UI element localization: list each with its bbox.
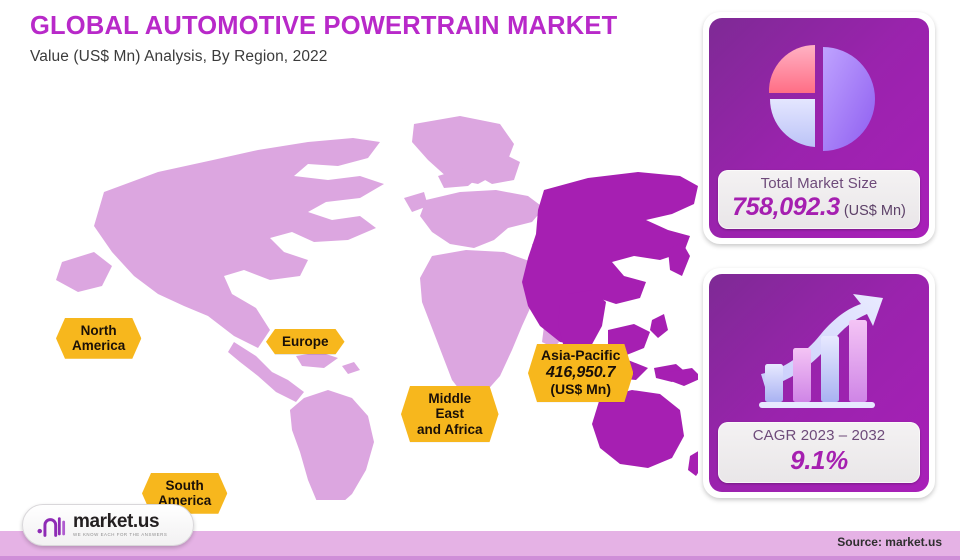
map-label-asia-pacific-unit: (US$ Mn) [541, 382, 620, 398]
map-label-europe[interactable]: Europe [266, 329, 345, 354]
map-label-middle-east-and-africa[interactable]: Middle East and Africa [401, 386, 499, 442]
map-regions-default [56, 116, 592, 500]
map-label-europe-text: Europe [282, 334, 329, 349]
map-label-asia-pacific-name: Asia-Pacific [541, 347, 620, 363]
market-us-logo-tagline: WE KNOW EACH FOR THE ANSWERS [73, 533, 167, 537]
map-label-south-america-line1: South [166, 478, 204, 493]
header: GLOBAL AUTOMOTIVE POWERTRAIN MARKET Valu… [30, 12, 670, 66]
market-size-unit: (US$ Mn) [844, 203, 906, 219]
source-text: Source: market.us [837, 535, 942, 549]
cagr-value: 9.1% [790, 445, 848, 475]
market-size-label: Total Market Size [724, 175, 914, 192]
cagr-card-inner: CAGR 2023 – 2032 9.1% [709, 274, 929, 492]
footer-strip [0, 556, 960, 560]
map-label-mea-line2: East [436, 406, 465, 421]
growth-bar-chart-icon [749, 292, 889, 414]
map-label-north-america-line1: North [81, 323, 117, 338]
cagr-label: CAGR 2023 – 2032 [724, 427, 914, 444]
world-map-svg [8, 80, 698, 500]
cagr-card: CAGR 2023 – 2032 9.1% [703, 268, 935, 498]
world-map: North America Europe South America Middl… [8, 80, 698, 500]
market-size-value-row: 758,092.3 (US$ Mn) [724, 193, 914, 222]
map-label-asia-pacific-value: 416,950.7 [541, 364, 620, 382]
map-label-north-america-line2: America [72, 338, 125, 353]
map-label-asia-pacific[interactable]: Asia-Pacific 416,950.7 (US$ Mn) [528, 344, 633, 402]
market-size-card: Total Market Size 758,092.3 (US$ Mn) [703, 12, 935, 244]
map-label-mea-line3: and Africa [417, 422, 483, 437]
page-subtitle: Value (US$ Mn) Analysis, By Region, 2022 [30, 48, 670, 66]
cagr-value-row: 9.1% [724, 445, 914, 476]
market-size-value: 758,092.3 [732, 193, 840, 221]
cagr-value-box: CAGR 2023 – 2032 9.1% [718, 422, 920, 483]
pie-chart-icon [753, 37, 885, 161]
market-size-card-inner: Total Market Size 758,092.3 (US$ Mn) [709, 18, 929, 238]
map-regions-highlight [522, 172, 698, 492]
market-us-logo-text-wrap: market.us WE KNOW EACH FOR THE ANSWERS [73, 512, 167, 537]
map-label-north-america[interactable]: North America [56, 318, 141, 359]
market-us-logo-text: market.us [73, 512, 167, 531]
market-us-logo-icon [36, 512, 66, 538]
map-label-mea-line1: Middle [428, 391, 471, 406]
market-size-value-box: Total Market Size 758,092.3 (US$ Mn) [718, 170, 920, 229]
pie-chart-icon-wrap [718, 28, 920, 170]
growth-bar-chart-icon-wrap [718, 284, 920, 422]
page-title: GLOBAL AUTOMOTIVE POWERTRAIN MARKET [30, 12, 670, 41]
market-us-logo[interactable]: market.us WE KNOW EACH FOR THE ANSWERS [22, 504, 194, 546]
